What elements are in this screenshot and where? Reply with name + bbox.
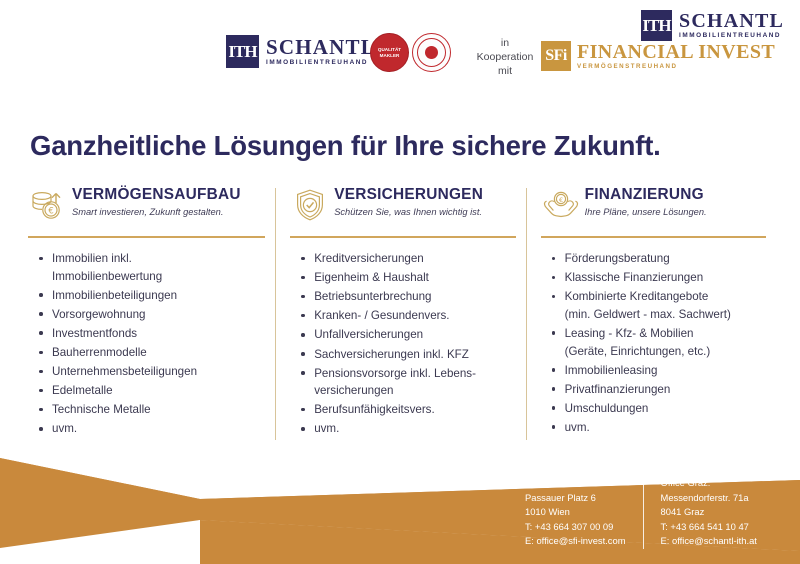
service-list-versicherungen: Kreditversicherungen Eigenheim & Haushal… [290, 250, 525, 438]
list-item: Kreditversicherungen [300, 250, 519, 268]
list-item: Immobilienleasing [551, 362, 770, 380]
list-item-line-1: Kranken- / Gesundenvers. [314, 307, 519, 325]
list-item-line-1: Kombinierte Kreditangebote [565, 288, 770, 306]
quality-seal-red-icon: QUALITÄT MAKLER [370, 33, 409, 72]
shield-check-icon [290, 186, 330, 224]
page-title: Ganzheitliche Lösungen für Ihre sichere … [30, 130, 661, 162]
office-graz-email[interactable]: E: office@schantl-ith.at [661, 534, 757, 549]
financial-invest-wordmark: FINANCIAL INVEST VERMÖGENSTREUHAND [577, 42, 775, 70]
column-header: € VERMÖGENSAUFBAU Smart investieren, Zuk… [28, 186, 275, 228]
service-list-finanzierung: Förderungsberatung Klassische Finanzieru… [541, 250, 776, 437]
list-item-line-1: Berufsunfähigkeitsvers. [314, 401, 519, 419]
schantl-subtitle-right: IMMOBILIENTREUHAND [679, 33, 784, 39]
column-divider [290, 236, 515, 238]
header: ITH SCHANTL IMMOBILIENTREUHAND QUALITÄT … [0, 0, 800, 108]
certification-seal-icon [412, 33, 451, 72]
list-item-line-1: Edelmetalle [52, 382, 269, 400]
list-item: Förderungsberatung [551, 250, 770, 268]
office-wien: Office Wien: Passauer Platz 6 1010 Wien … [525, 476, 626, 549]
schantl-name: SCHANTL [266, 37, 376, 58]
office-graz-street: Messendorferstr. 71a [661, 491, 757, 506]
office-graz: Office Graz: Messendorferstr. 71a 8041 G… [643, 476, 757, 549]
list-item-line-1: Eigenheim & Haushalt [314, 269, 519, 287]
list-item: Investmentfonds [38, 325, 269, 343]
list-item: uvm. [38, 420, 269, 438]
column-divider [28, 236, 265, 238]
office-wien-label: Office Wien: [525, 476, 626, 491]
list-item-line-1: Privatfinanzierungen [565, 381, 770, 399]
list-item: Bauherrenmodelle [38, 344, 269, 362]
list-item: Immobilien inkl.Immobilienbewertung [38, 250, 269, 285]
office-wien-email[interactable]: E: office@sfi-invest.com [525, 534, 626, 549]
list-item: Vorsorgewohnung [38, 306, 269, 324]
list-item: Klassische Finanzierungen [551, 269, 770, 287]
office-wien-street: Passauer Platz 6 [525, 491, 626, 506]
office-wien-phone[interactable]: T: +43 664 307 00 09 [525, 520, 626, 535]
list-item-line-1: Bauherrenmodelle [52, 344, 269, 362]
column-title: VERMÖGENSAUFBAU [72, 187, 241, 204]
column-versicherungen: VERSICHERUNGEN Schützen Sie, was Ihnen w… [275, 186, 525, 440]
list-item: Privatfinanzierungen [551, 381, 770, 399]
list-item: Pensionsvorsorge inkl. Lebens-versicheru… [300, 365, 519, 400]
sfi-monogram-icon: SFi [541, 41, 571, 71]
list-item-line-1: uvm. [565, 419, 770, 437]
logo-schantl-left: ITH SCHANTL IMMOBILIENTREUHAND [226, 35, 376, 68]
office-graz-label: Office Graz: [661, 476, 757, 491]
cooperation-line-3: mit [470, 64, 540, 78]
list-item-line-1: Immobilienbeteiligungen [52, 287, 269, 305]
list-item-line-1: Betriebsunterbrechung [314, 288, 519, 306]
cooperation-note: in Kooperation mit [470, 36, 540, 79]
ith-monogram-icon: ITH [226, 35, 259, 68]
list-item: Berufsunfähigkeitsvers. [300, 401, 519, 419]
list-item-line-1: Kreditversicherungen [314, 250, 519, 268]
ith-monogram-label-right: ITH [642, 16, 670, 36]
service-list-vermoegensaufbau: Immobilien inkl.Immobilienbewertung Immo… [28, 250, 275, 438]
column-header: € FINANZIERUNG Ihre Pläne, unsere Lösung… [541, 186, 776, 228]
list-item-line-1: Investmentfonds [52, 325, 269, 343]
logo-sfi-financial-invest: SFi FINANCIAL INVEST VERMÖGENSTREUHAND [541, 41, 775, 71]
office-graz-city: 8041 Graz [661, 505, 757, 520]
column-tagline: Schützen Sie, was Ihnen wichtig ist. [334, 207, 483, 218]
cooperation-line-1: in [470, 36, 540, 50]
schantl-name-right: SCHANTL [679, 11, 784, 31]
logo-schantl-right: ITH SCHANTL IMMOBILIENTREUHAND [641, 10, 784, 41]
column-title: FINANZIERUNG [585, 187, 707, 204]
list-item-line-2: Immobilienbewertung [52, 268, 269, 286]
financial-invest-subtitle: VERMÖGENSTREUHAND [577, 64, 775, 70]
list-item-line-2: versicherungen [314, 382, 519, 400]
list-item-line-1: Vorsorgewohnung [52, 306, 269, 324]
office-graz-phone[interactable]: T: +43 664 541 10 47 [661, 520, 757, 535]
ith-monogram-icon-right: ITH [641, 10, 672, 41]
hands-euro-coin-icon: € [541, 186, 581, 224]
column-tagline: Ihre Pläne, unsere Lösungen. [585, 207, 707, 218]
ith-monogram-label: ITH [228, 42, 256, 62]
list-item: Kranken- / Gesundenvers. [300, 307, 519, 325]
svg-text:€: € [48, 206, 53, 216]
svg-text:€: € [559, 196, 563, 204]
footer-contact: Office Wien: Passauer Platz 6 1010 Wien … [525, 476, 757, 549]
list-item: Unternehmensbeteiligungen [38, 363, 269, 381]
list-item: Technische Metalle [38, 401, 269, 419]
list-item-line-1: uvm. [314, 420, 519, 438]
list-item: Kombinierte Kreditangebote(min. Geldwert… [551, 288, 770, 323]
office-wien-city: 1010 Wien [525, 505, 626, 520]
list-item-line-1: Technische Metalle [52, 401, 269, 419]
schantl-subtitle: IMMOBILIENTREUHAND [266, 60, 376, 66]
list-item: uvm. [551, 419, 770, 437]
seal-crest-icon [425, 46, 438, 59]
column-header-text: FINANZIERUNG Ihre Pläne, unsere Lösungen… [585, 186, 707, 218]
list-item: Edelmetalle [38, 382, 269, 400]
schantl-wordmark-right: SCHANTL IMMOBILIENTREUHAND [679, 11, 784, 39]
list-item-line-1: Unfallversicherungen [314, 326, 519, 344]
service-columns: € VERMÖGENSAUFBAU Smart investieren, Zuk… [28, 186, 776, 440]
sfi-monogram-label: SFi [545, 47, 567, 65]
schantl-wordmark: SCHANTL IMMOBILIENTREUHAND [266, 37, 376, 66]
list-item-line-1: Immobilienleasing [565, 362, 770, 380]
list-item: Umschuldungen [551, 400, 770, 418]
column-header: VERSICHERUNGEN Schützen Sie, was Ihnen w… [290, 186, 525, 228]
list-item-line-1: Immobilien inkl. [52, 250, 269, 268]
list-item: uvm. [300, 420, 519, 438]
list-item-line-2: (Geräte, Einrichtungen, etc.) [565, 343, 770, 361]
cooperation-line-2: Kooperation [470, 50, 540, 64]
list-item: Immobilienbeteiligungen [38, 287, 269, 305]
column-finanzierung: € FINANZIERUNG Ihre Pläne, unsere Lösung… [526, 186, 776, 440]
column-title: VERSICHERUNGEN [334, 187, 483, 204]
column-vermoegensaufbau: € VERMÖGENSAUFBAU Smart investieren, Zuk… [28, 186, 275, 440]
list-item-line-1: Umschuldungen [565, 400, 770, 418]
list-item-line-1: Pensionsvorsorge inkl. Lebens- [314, 365, 519, 383]
list-item-line-1: Leasing - Kfz- & Mobilien [565, 325, 770, 343]
list-item-line-1: Klassische Finanzierungen [565, 269, 770, 287]
list-item-line-1: Sachversicherungen inkl. KFZ [314, 346, 519, 364]
list-item: Leasing - Kfz- & Mobilien(Geräte, Einric… [551, 325, 770, 360]
column-divider [541, 236, 766, 238]
quality-seal-red-label: QUALITÄT MAKLER [371, 47, 408, 58]
list-item-line-1: Förderungsberatung [565, 250, 770, 268]
list-item: Betriebsunterbrechung [300, 288, 519, 306]
column-tagline: Smart investieren, Zukunft gestalten. [72, 207, 241, 218]
flyer-page: ITH SCHANTL IMMOBILIENTREUHAND QUALITÄT … [0, 0, 800, 564]
coins-euro-growth-icon: € [28, 186, 68, 224]
list-item-line-1: uvm. [52, 420, 269, 438]
financial-invest-name: FINANCIAL INVEST [577, 42, 775, 62]
list-item: Eigenheim & Haushalt [300, 269, 519, 287]
list-item-line-1: Unternehmensbeteiligungen [52, 363, 269, 381]
list-item-line-2: (min. Geldwert - max. Sachwert) [565, 306, 770, 324]
column-header-text: VERSICHERUNGEN Schützen Sie, was Ihnen w… [334, 186, 483, 218]
list-item: Sachversicherungen inkl. KFZ [300, 346, 519, 364]
list-item: Unfallversicherungen [300, 326, 519, 344]
column-header-text: VERMÖGENSAUFBAU Smart investieren, Zukun… [72, 186, 241, 218]
